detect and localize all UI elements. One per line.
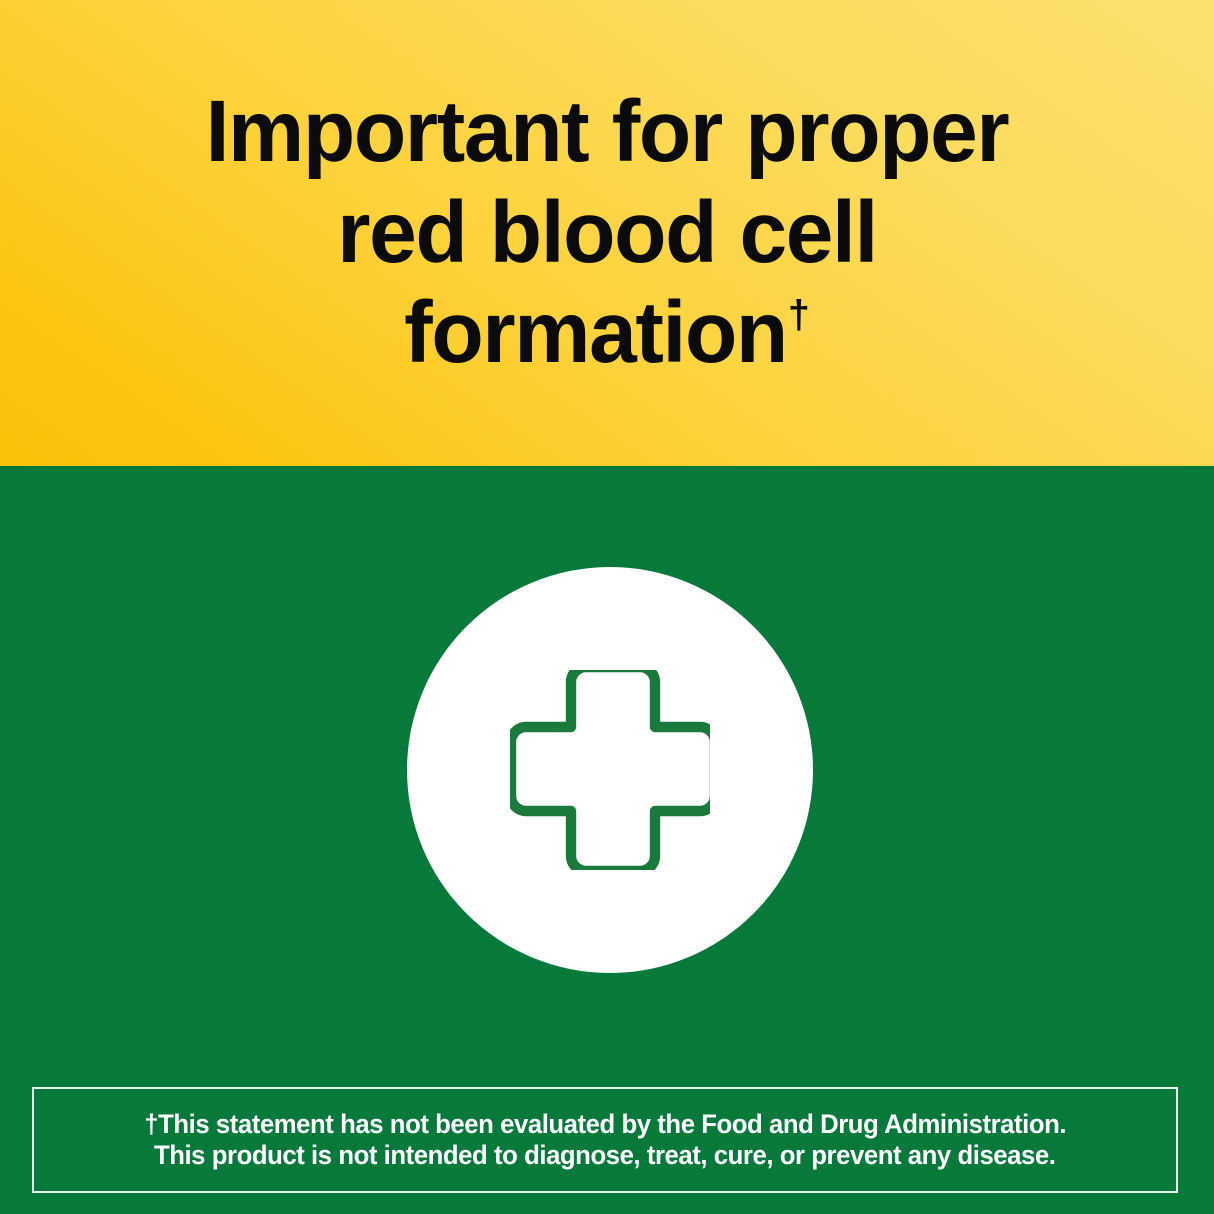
body-section: †This statement has not been evaluated b… bbox=[0, 466, 1214, 1214]
fda-disclaimer-box: †This statement has not been evaluated b… bbox=[32, 1087, 1178, 1193]
headline-line-1: Important for proper bbox=[35, 82, 1180, 183]
disclaimer-line-2: This product is not intended to diagnose… bbox=[154, 1140, 1056, 1171]
disclaimer-line-1: †This statement has not been evaluated b… bbox=[144, 1109, 1066, 1140]
badge-circle bbox=[407, 567, 813, 973]
footnote-marker: † bbox=[788, 293, 810, 337]
headline-line-2: red blood cell bbox=[35, 183, 1180, 284]
page-title: Important for proper red blood cell form… bbox=[35, 82, 1180, 385]
headline-line-3: formation† bbox=[35, 283, 1180, 384]
headline-line-3-text: formation bbox=[404, 284, 787, 381]
headline-banner: Important for proper red blood cell form… bbox=[0, 0, 1214, 466]
product-benefit-panel: Important for proper red blood cell form… bbox=[0, 0, 1214, 1214]
medical-cross-icon bbox=[510, 670, 710, 870]
